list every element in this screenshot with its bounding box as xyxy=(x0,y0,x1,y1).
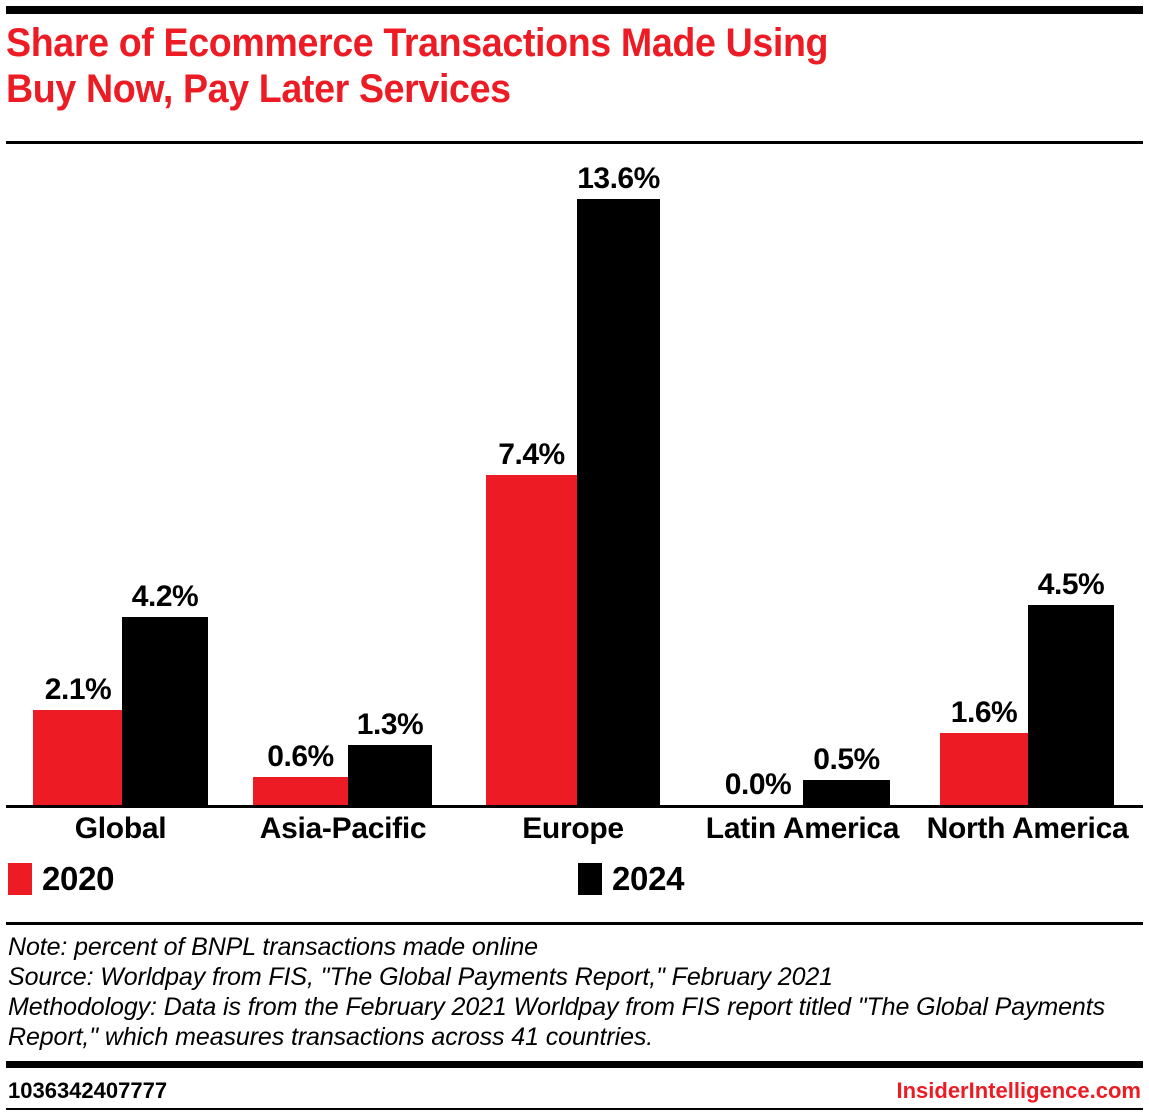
category-label-asia-pacific: Asia-Pacific xyxy=(248,812,438,846)
legend-label: 2024 xyxy=(612,862,684,895)
x-axis-line xyxy=(6,805,1143,808)
bar-2024-global xyxy=(122,617,208,805)
chart-canvas: Share of Ecommerce Transactions Made Usi… xyxy=(0,0,1149,1115)
bar-value-label: 0.6% xyxy=(253,742,348,772)
chart-notes: Note: percent of BNPL transactions made … xyxy=(8,932,1143,1052)
bar-2024-europe xyxy=(577,199,660,805)
chart-id: 1036342407777 xyxy=(8,1079,167,1103)
category-label-latin-america: Latin America xyxy=(700,812,905,846)
bar-value-label: 4.5% xyxy=(1028,570,1114,600)
bottom-rule xyxy=(6,1108,1143,1110)
bar-2024-latin-america xyxy=(803,780,890,805)
bar-value-label: 13.6% xyxy=(577,164,660,194)
legend-swatch-icon xyxy=(578,863,602,895)
title-divider xyxy=(6,141,1143,144)
legend-label: 2020 xyxy=(42,862,114,895)
category-labels: Global Asia-Pacific Europe Latin America… xyxy=(0,812,1149,852)
bar-2020-global xyxy=(33,710,123,805)
bar-2024-north-america xyxy=(1028,605,1114,805)
bar-value-label: 1.6% xyxy=(940,698,1028,728)
legend-item-2024[interactable]: 2024 xyxy=(578,862,684,895)
bar-value-label: 1.3% xyxy=(348,710,432,740)
bar-value-label: 4.2% xyxy=(122,582,208,612)
legend-item-2020[interactable]: 2020 xyxy=(8,862,114,895)
chart-title: Share of Ecommerce Transactions Made Usi… xyxy=(6,20,1059,112)
bar-value-label: 0.0% xyxy=(713,770,803,800)
bar-2020-north-america xyxy=(940,733,1028,805)
legend-swatch-icon xyxy=(8,863,32,895)
bar-2020-asia-pacific xyxy=(253,777,348,805)
bar-2020-europe xyxy=(486,475,577,805)
brand-link[interactable]: InsiderIntelligence.com xyxy=(896,1079,1141,1103)
category-label-europe: Europe xyxy=(478,812,668,846)
bar-value-label: 0.5% xyxy=(803,745,890,775)
footer-divider xyxy=(6,1061,1143,1068)
source-text: Source: Worldpay from FIS, "The Global P… xyxy=(8,962,1143,992)
notes-divider xyxy=(6,922,1143,925)
category-label-north-america: North America xyxy=(925,812,1130,846)
chart-legend: 2020 2024 xyxy=(0,858,1149,904)
bar-value-label: 2.1% xyxy=(33,675,123,705)
methodology-text: Methodology: Data is from the February 2… xyxy=(8,992,1143,1052)
bar-2024-asia-pacific xyxy=(348,745,432,805)
plot-area: 2.1% 4.2% 0.6% 1.3% 7.4% 13.6% 0.0% 0.5%… xyxy=(0,150,1149,810)
bar-value-label: 7.4% xyxy=(486,440,577,470)
note-text: Note: percent of BNPL transactions made … xyxy=(8,932,1143,962)
category-label-global: Global xyxy=(23,812,218,846)
top-rule xyxy=(6,6,1143,14)
